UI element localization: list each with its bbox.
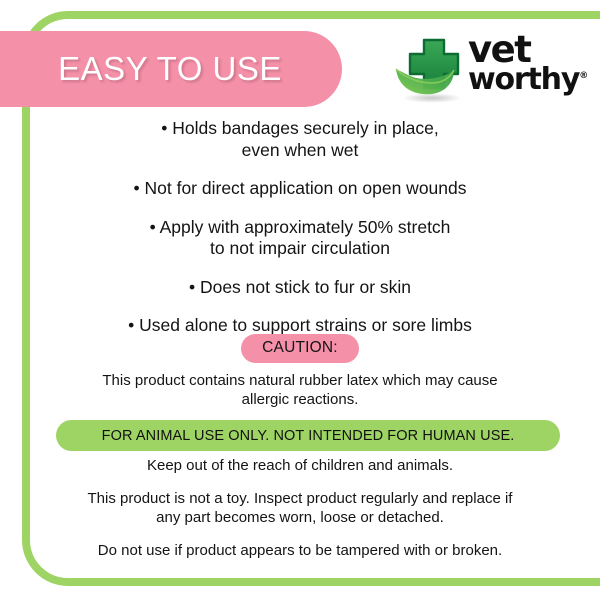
brand-logo: vet worthy® [392,34,582,108]
warning-text: This product is not a toy. Inspect produ… [0,490,600,528]
caution-row: CAUTION: [0,334,600,363]
list-item: • Does not stick to fur or skin [0,277,600,299]
latex-allergy-warning: This product contains natural rubber lat… [0,372,600,410]
list-item: • Holds bandages securely in place, even… [0,118,600,161]
registered-trademark-icon: ® [579,71,588,81]
animal-use-label: FOR ANIMAL USE ONLY. NOT INTENDED FOR HU… [102,428,515,444]
list-item: • Not for direct application on open wou… [0,178,600,200]
brand-wordmark: vet worthy® [468,34,582,106]
footer-warnings: Keep out of the reach of children and an… [0,457,600,561]
caution-badge: CAUTION: [241,334,359,363]
brand-wordmark-line2-text: worthy [468,62,579,97]
panel-header: EASY TO USE [0,0,600,120]
animal-use-banner: FOR ANIMAL USE ONLY. NOT INTENDED FOR HU… [56,420,560,451]
green-cross-leaf-logo-icon [392,36,468,104]
easy-to-use-banner: EASY TO USE [0,31,342,107]
list-item: • Apply with approximately 50% stretch t… [0,217,600,260]
easy-to-use-label: EASY TO USE [58,50,282,88]
warning-text: Do not use if product appears to be tamp… [0,542,600,561]
warning-text: Keep out of the reach of children and an… [0,457,600,476]
feature-bullet-list: • Holds bandages securely in place, even… [0,118,600,337]
brand-wordmark-line2: worthy® [468,67,582,93]
product-info-panel: EASY TO USE [0,0,600,600]
